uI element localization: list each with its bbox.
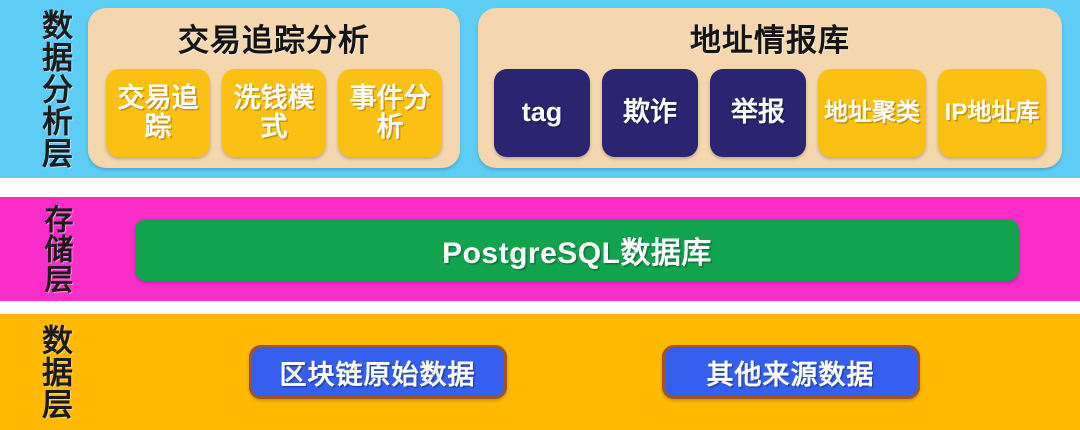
data-source-other[interactable]: 其他来源数据 bbox=[662, 345, 920, 399]
panel-title-address-intelligence: 地址情报库 bbox=[478, 15, 1062, 60]
layer-band-data-source: 数据层 区块链原始数据 其他来源数据 bbox=[0, 314, 1080, 430]
card-row-transaction-tracking: 交易追踪 洗钱模式 事件分析 bbox=[88, 66, 460, 160]
panel-title-transaction-tracking: 交易追踪分析 bbox=[88, 15, 460, 60]
card-report[interactable]: 举报 bbox=[710, 69, 806, 157]
card-laundering-pattern[interactable]: 洗钱模式 bbox=[222, 69, 326, 157]
layer-label-data-source: 数据层 bbox=[14, 324, 70, 420]
database-box-postgresql[interactable]: PostgreSQL数据库 bbox=[135, 219, 1019, 281]
database-label-postgresql: PostgreSQL数据库 bbox=[442, 228, 712, 272]
layer-band-storage: 存储层 PostgreSQL数据库 bbox=[0, 197, 1080, 301]
card-row-address-intelligence: tag 欺诈 举报 地址聚类 IP地址库 bbox=[478, 66, 1062, 160]
card-transaction-trace[interactable]: 交易追踪 bbox=[106, 69, 210, 157]
layer-label-data-analysis: 数据分析层 bbox=[14, 8, 70, 170]
data-source-row: 区块链原始数据 其他来源数据 bbox=[88, 314, 1080, 430]
card-fraud[interactable]: 欺诈 bbox=[602, 69, 698, 157]
card-tag[interactable]: tag bbox=[494, 69, 590, 157]
card-ip-address-library[interactable]: IP地址库 bbox=[938, 69, 1046, 157]
panel-transaction-tracking: 交易追踪分析 交易追踪 洗钱模式 事件分析 bbox=[88, 8, 460, 168]
layer-label-storage: 存储层 bbox=[14, 203, 70, 295]
panel-address-intelligence: 地址情报库 tag 欺诈 举报 地址聚类 IP地址库 bbox=[478, 8, 1062, 168]
data-source-label-blockchain-raw: 区块链原始数据 bbox=[280, 353, 476, 392]
card-address-clustering[interactable]: 地址聚类 bbox=[818, 69, 926, 157]
data-source-blockchain-raw[interactable]: 区块链原始数据 bbox=[249, 345, 507, 399]
card-event-analysis[interactable]: 事件分析 bbox=[338, 69, 442, 157]
data-source-label-other: 其他来源数据 bbox=[707, 353, 875, 392]
layer-band-data-analysis: 数据分析层 交易追踪分析 交易追踪 洗钱模式 事件分析 地址情报库 tag 欺诈… bbox=[0, 0, 1080, 178]
architecture-diagram: 数据分析层 交易追踪分析 交易追踪 洗钱模式 事件分析 地址情报库 tag 欺诈… bbox=[0, 0, 1080, 430]
